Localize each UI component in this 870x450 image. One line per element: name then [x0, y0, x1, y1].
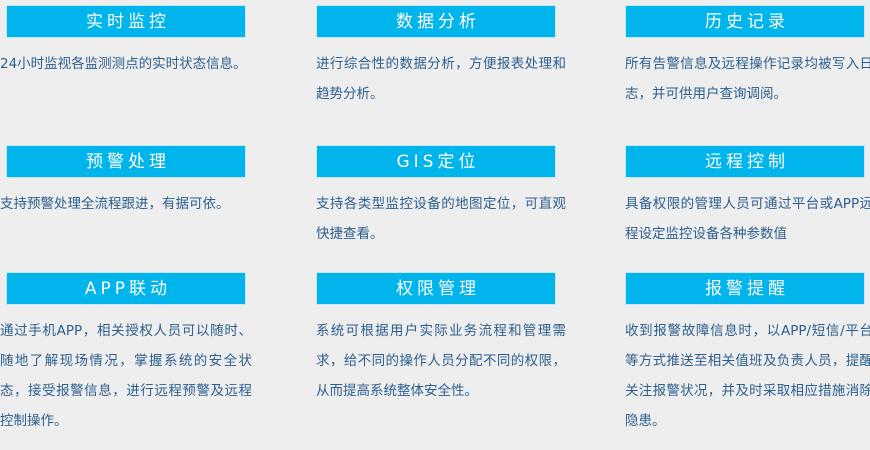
card-title-app-linkage: APP联动: [6, 272, 246, 305]
feature-card-alarm-reminder: 报警提醒 收到报警故障信息时，以APP/短信/平台等方式推送至相关值班及负责人员…: [625, 272, 865, 436]
feature-card-grid: 实时监控 24小时监视各监测测点的实时状态信息。 数据分析 进行综合性的数据分析…: [0, 0, 870, 450]
card-title-history-record: 历史记录: [625, 5, 865, 38]
card-title-remote-control: 远程控制: [625, 145, 865, 178]
card-title-alarm-reminder: 报警提醒: [625, 272, 865, 305]
feature-card-history-record: 历史记录 所有告警信息及远程操作记录均被写入日志，并可供用户查询调阅。: [625, 5, 865, 109]
card-body-alarm-reminder: 收到报警故障信息时，以APP/短信/平台等方式推送至相关值班及负责人员，提醒关注…: [625, 316, 870, 436]
card-body-real-time-monitoring: 24小时监视各监测测点的实时状态信息。: [0, 49, 252, 79]
feature-card-early-warning-handling: 预警处理 支持预警处理全流程跟进，有据可依。: [6, 145, 246, 219]
feature-card-remote-control: 远程控制 具备权限的管理人员可通过平台或APP远程设定监控设备各种参数值: [625, 145, 865, 249]
card-body-permission-management: 系统可根据用户实际业务流程和管理需求，给不同的操作人员分配不同的权限，从而提高系…: [316, 316, 566, 406]
card-title-data-analysis: 数据分析: [316, 5, 556, 38]
feature-card-gis-positioning: GIS定位 支持各类型监控设备的地图定位，可直观快捷查看。: [316, 145, 556, 249]
feature-card-app-linkage: APP联动 通过手机APP，相关授权人员可以随时、随地了解现场情况，掌握系统的安…: [6, 272, 246, 436]
feature-card-data-analysis: 数据分析 进行综合性的数据分析，方便报表处理和趋势分析。: [316, 5, 556, 109]
card-body-remote-control: 具备权限的管理人员可通过平台或APP远程设定监控设备各种参数值: [625, 189, 870, 249]
feature-card-real-time-monitoring: 实时监控 24小时监视各监测测点的实时状态信息。: [6, 5, 246, 79]
card-body-data-analysis: 进行综合性的数据分析，方便报表处理和趋势分析。: [316, 49, 566, 109]
card-body-app-linkage: 通过手机APP，相关授权人员可以随时、随地了解现场情况，掌握系统的安全状态，接受…: [0, 316, 252, 436]
card-title-real-time-monitoring: 实时监控: [6, 5, 246, 38]
card-title-permission-management: 权限管理: [316, 272, 556, 305]
card-title-early-warning-handling: 预警处理: [6, 145, 246, 178]
feature-card-permission-management: 权限管理 系统可根据用户实际业务流程和管理需求，给不同的操作人员分配不同的权限，…: [316, 272, 556, 406]
card-body-gis-positioning: 支持各类型监控设备的地图定位，可直观快捷查看。: [316, 189, 566, 249]
card-body-history-record: 所有告警信息及远程操作记录均被写入日志，并可供用户查询调阅。: [625, 49, 870, 109]
card-body-early-warning-handling: 支持预警处理全流程跟进，有据可依。: [0, 189, 252, 219]
card-title-gis-positioning: GIS定位: [316, 145, 556, 178]
